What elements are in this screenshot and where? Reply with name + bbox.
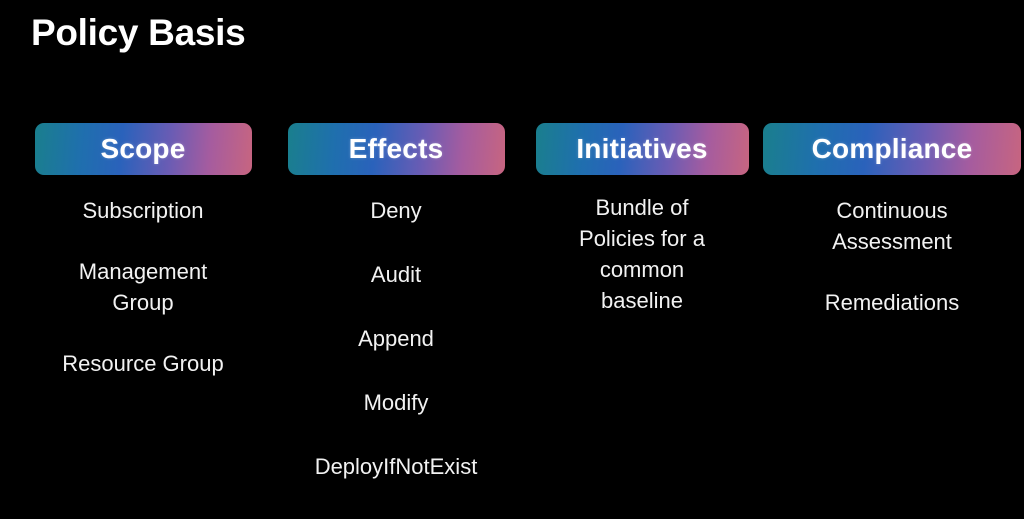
item-list-scope: Subscription Management Group Resource G… (18, 175, 268, 409)
heading-pill-initiatives: Initiatives (536, 123, 749, 175)
list-item: Bundle of Policies for a common baseline (579, 192, 705, 316)
heading-label-scope: Scope (100, 133, 185, 165)
list-item: Subscription (82, 195, 203, 226)
heading-pill-scope: Scope (35, 123, 252, 175)
heading-label-initiatives: Initiatives (576, 133, 707, 165)
list-item: Resource Group (62, 348, 223, 379)
column-compliance: Compliance Continuous Assessment Remedia… (760, 123, 1024, 348)
column-group: Scope Subscription Management Group Reso… (0, 123, 1024, 515)
heading-pill-effects: Effects (288, 123, 505, 175)
column-effects: Effects Deny Audit Append Modify DeployI… (276, 123, 516, 515)
list-item: Management Group (79, 256, 207, 318)
item-list-initiatives: Bundle of Policies for a common baseline (526, 175, 758, 316)
list-item: Modify (364, 387, 429, 418)
column-scope: Scope Subscription Management Group Reso… (18, 123, 268, 409)
list-item: DeployIfNotExist (315, 451, 478, 482)
list-item: Audit (371, 259, 421, 290)
list-item: Append (358, 323, 434, 354)
slide-canvas: Policy Basis Scope Subscription Manageme… (0, 0, 1024, 519)
column-initiatives: Initiatives Bundle of Policies for a com… (526, 123, 758, 316)
list-item: Remediations (825, 287, 960, 318)
heading-label-compliance: Compliance (812, 133, 973, 165)
list-item: Continuous Assessment (832, 195, 952, 257)
page-title: Policy Basis (31, 12, 245, 54)
item-list-effects: Deny Audit Append Modify DeployIfNotExis… (276, 175, 516, 515)
heading-label-effects: Effects (349, 133, 444, 165)
heading-pill-compliance: Compliance (763, 123, 1021, 175)
list-item: Deny (370, 195, 421, 226)
item-list-compliance: Continuous Assessment Remediations (760, 175, 1024, 348)
